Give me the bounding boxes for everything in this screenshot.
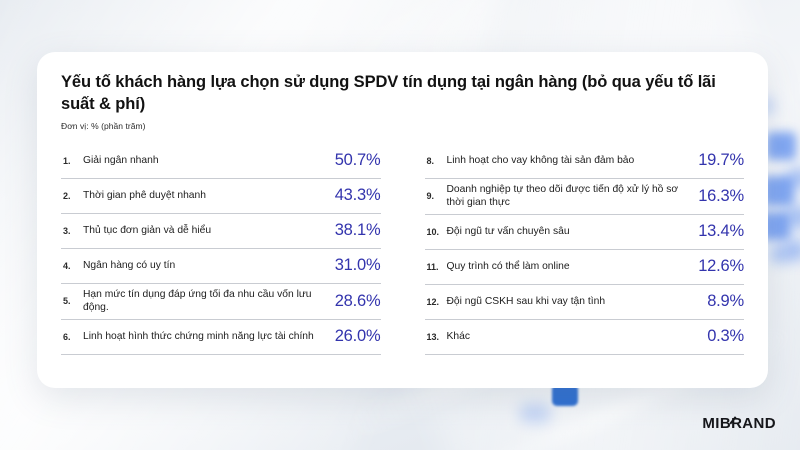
row-label: Doanh nghiệp tự theo dõi được tiến độ xử… xyxy=(447,183,699,210)
row-label: Giải ngân nhanh xyxy=(83,154,335,168)
row-rank: 8. xyxy=(425,156,447,166)
row-rank: 11. xyxy=(425,262,447,272)
row-rank: 4. xyxy=(61,261,83,271)
table-row: 4. Ngân hàng có uy tín 31.0% xyxy=(61,249,381,284)
row-label: Khác xyxy=(447,330,708,344)
row-rank: 10. xyxy=(425,227,447,237)
row-label: Hạn mức tín dụng đáp ứng tối đa nhu cầu … xyxy=(83,288,335,315)
logo-text-before: MIB xyxy=(702,415,731,432)
row-rank: 13. xyxy=(425,332,447,342)
page-subtitle: Đơn vị: % (phần trăm) xyxy=(61,121,744,131)
table-row: 5. Hạn mức tín dụng đáp ứng tối đa nhu c… xyxy=(61,284,381,320)
row-label: Ngân hàng có uy tín xyxy=(83,259,335,273)
row-value: 26.0% xyxy=(335,327,381,346)
table-row: 11. Quy trình có thể làm online 12.6% xyxy=(425,250,745,285)
table-row: 3. Thủ tục đơn giản và dễ hiểu 38.1% xyxy=(61,214,381,249)
logo-text-after: AND xyxy=(742,415,776,432)
row-rank: 3. xyxy=(61,226,83,236)
row-label: Đội ngũ CSKH sau khi vay tận tình xyxy=(447,295,708,309)
ranking-column-left: 1. Giải ngân nhanh 50.7% 2. Thời gian ph… xyxy=(61,144,381,355)
row-rank: 12. xyxy=(425,297,447,307)
row-rank: 6. xyxy=(61,332,83,342)
stats-card: Yếu tố khách hàng lựa chọn sử dụng SPDV … xyxy=(37,52,768,388)
row-label: Thời gian phê duyệt nhanh xyxy=(83,189,335,203)
decorative-cube-icon xyxy=(520,404,550,422)
mibrand-logo: MIBRAND xyxy=(702,415,776,432)
row-label: Đội ngũ tư vấn chuyên sâu xyxy=(447,225,699,239)
logo-text-r: R xyxy=(731,415,742,432)
row-rank: 2. xyxy=(61,191,83,201)
row-value: 43.3% xyxy=(335,186,381,205)
row-label: Quy trình có thể làm online xyxy=(447,260,699,274)
table-row: 13. Khác 0.3% xyxy=(425,320,745,355)
row-value: 16.3% xyxy=(698,187,744,206)
table-row: 9. Doanh nghiệp tự theo dõi được tiến độ… xyxy=(425,179,745,215)
page-title: Yếu tố khách hàng lựa chọn sử dụng SPDV … xyxy=(61,72,744,116)
row-value: 28.6% xyxy=(335,292,381,311)
row-value: 38.1% xyxy=(335,221,381,240)
table-row: 6. Linh hoạt hình thức chứng minh năng l… xyxy=(61,320,381,355)
row-label: Linh hoạt cho vay không tài sản đảm bảo xyxy=(447,154,699,168)
row-value: 8.9% xyxy=(707,292,744,311)
row-label: Thủ tục đơn giản và dễ hiểu xyxy=(83,224,335,238)
row-value: 13.4% xyxy=(698,222,744,241)
row-value: 0.3% xyxy=(707,327,744,346)
table-row: 2. Thời gian phê duyệt nhanh 43.3% xyxy=(61,179,381,214)
ranking-column-right: 8. Linh hoạt cho vay không tài sản đảm b… xyxy=(425,144,745,355)
decorative-cube-icon xyxy=(766,132,796,160)
row-value: 50.7% xyxy=(335,151,381,170)
table-row: 12. Đội ngũ CSKH sau khi vay tận tình 8.… xyxy=(425,285,745,320)
table-row: 10. Đội ngũ tư vấn chuyên sâu 13.4% xyxy=(425,215,745,250)
decorative-cube-icon xyxy=(770,246,788,262)
row-value: 19.7% xyxy=(698,151,744,170)
table-row: 1. Giải ngân nhanh 50.7% xyxy=(61,144,381,179)
ranking-columns: 1. Giải ngân nhanh 50.7% 2. Thời gian ph… xyxy=(61,144,744,355)
row-value: 31.0% xyxy=(335,256,381,275)
row-label: Linh hoạt hình thức chứng minh năng lực … xyxy=(83,330,335,344)
row-value: 12.6% xyxy=(698,257,744,276)
table-row: 8. Linh hoạt cho vay không tài sản đảm b… xyxy=(425,144,745,179)
row-rank: 9. xyxy=(425,191,447,201)
row-rank: 1. xyxy=(61,156,83,166)
row-rank: 5. xyxy=(61,296,83,306)
